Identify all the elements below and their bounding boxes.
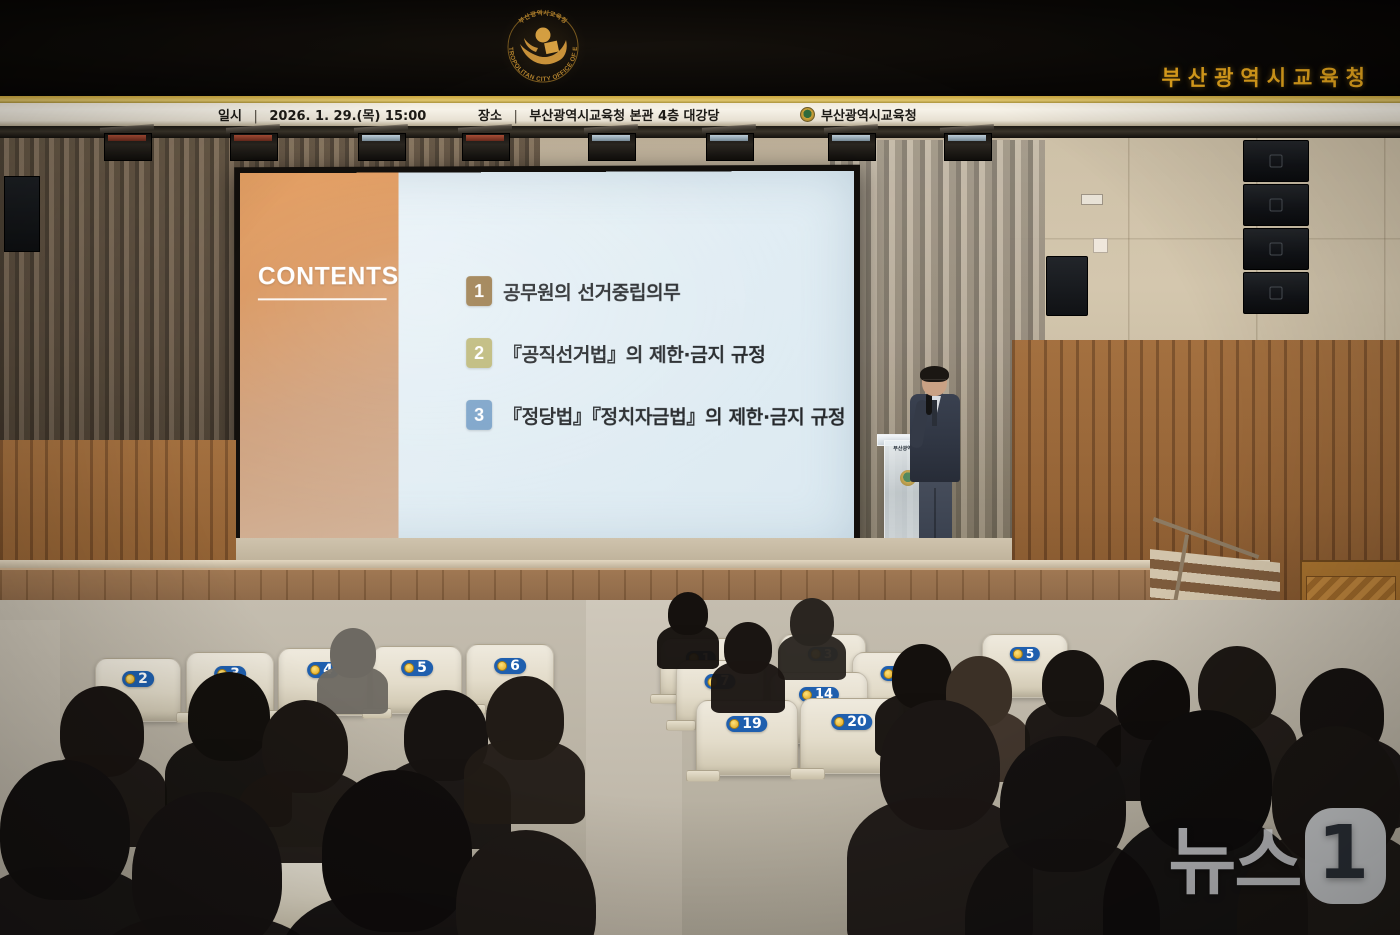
svg-text:부산광역시교육청: 부산광역시교육청 [517,9,569,25]
seat-number-tag: 6 [494,658,526,674]
seat-armrest [666,720,696,731]
toc-item-label: 공무원의 선거중립의무 [503,277,680,304]
seat-number: 6 [510,659,520,673]
seat-armrest [650,694,678,704]
wall-fixture [1081,194,1103,205]
list-item: 3 『정당법』『정치자금법』의 제한·금지 규정 [466,400,845,431]
audience-shoulders [778,634,846,680]
ceiling-truss [0,126,1400,138]
projection-screen: CONTENTS 1 공무원의 선거중립의무 2 『공직선거법』의 제한·금지 … [240,171,854,545]
seat-tag-dot-icon [497,661,507,671]
banner-date-value: 2026. 1. 29.(목) 15:00 [269,109,426,124]
auditorium-photo: 부산광역시교육청 BUSAN METROPOLITAN CITY OFFICE … [0,0,1400,935]
line-array-speaker [1243,140,1307,312]
seat-tag-dot-icon [125,674,135,684]
wall-speaker [1046,256,1088,316]
stage-light-icon [462,131,508,159]
seat-armrest [790,768,825,780]
banner-gold-strip [0,96,1400,103]
audience-shoulders [711,661,785,713]
list-item: 1 공무원의 선거중립의무 [466,275,845,306]
list-item: 2 『공직선거법』의 제한·금지 규정 [466,338,845,368]
stage-light-icon [104,131,150,159]
seat-tag-dot-icon [1013,649,1023,659]
banner-org-value: 부산광역시교육청 [821,105,917,124]
audience-shoulders [464,740,585,824]
banner-separator-1: | [253,109,257,124]
toc-number-badge: 3 [466,400,492,430]
stage-light-icon [588,131,634,159]
event-banner: 일시 | 2026. 1. 29.(목) 15:00 장소 | 부산광역시교육청… [0,96,1400,126]
microphone-icon [926,393,932,415]
banner-emblem-icon [800,107,815,122]
news-watermark: 뉴스1 [1168,802,1386,909]
slide-body: 1 공무원의 선거중립의무 2 『공직선거법』의 제한·금지 규정 3 『정당법… [399,171,854,545]
seat-number: 5 [1026,648,1034,660]
seat-number-tag: 19 [726,716,767,732]
watermark-badge: 1 [1305,808,1387,904]
slide-title-panel: CONTENTS [240,173,398,544]
seat-tag-dot-icon [404,663,414,673]
seat-number: 19 [742,717,761,731]
watermark-text: 뉴스 [1168,802,1300,909]
seat-number-tag: 5 [1010,647,1040,661]
seat-number: 2 [138,672,148,686]
seat-tag-dot-icon [729,719,739,729]
seat-number: 5 [417,661,427,675]
toc-item-label: 『공직선거법』의 제한·금지 규정 [503,339,765,366]
slide-title-underline [258,298,387,300]
banner-place-block: 장소 | 부산광역시교육청 본관 4층 대강당 [478,105,719,124]
seat-tag-dot-icon [310,665,320,675]
seat-number: 20 [847,715,866,729]
seat-armrest [686,770,720,782]
seat-tag-dot-icon [834,717,844,727]
seat-number-tag: 5 [401,660,433,676]
banner-date-block: 일시 | 2026. 1. 29.(목) 15:00 [218,105,426,124]
stage-light-icon [828,131,874,159]
slide-toc-list: 1 공무원의 선거중립의무 2 『공직선거법』의 제한·금지 규정 3 『정당법… [466,275,845,430]
toc-number-badge: 1 [466,276,492,306]
wall-outlet [1093,238,1108,253]
stage-light-icon [944,131,990,159]
seat-number-tag: 20 [831,714,872,730]
stage-light-icon [706,131,752,159]
stage-light-icon [358,131,404,159]
banner-place-value: 부산광역시교육청 본관 4층 대강당 [529,109,719,124]
slide-title: CONTENTS [258,262,399,291]
wall-speaker-left [4,176,40,252]
banner-org-block: 부산광역시교육청 [800,105,917,124]
audience-shoulders [657,625,719,669]
banner-place-label: 장소 [478,109,502,124]
office-name-wall-text: 부산광역시교육청 [1161,62,1372,92]
toc-number-badge: 2 [466,338,492,368]
office-emblem-icon: 부산광역시교육청 BUSAN METROPOLITAN CITY OFFICE … [500,4,586,90]
toc-item-label: 『정당법』『정치자금법』의 제한·금지 규정 [503,401,845,428]
stage-light-icon [230,131,276,159]
banner-date-label: 일시 [218,109,242,124]
seat-number-tag: 2 [122,671,154,687]
banner-separator-2: | [513,109,517,124]
